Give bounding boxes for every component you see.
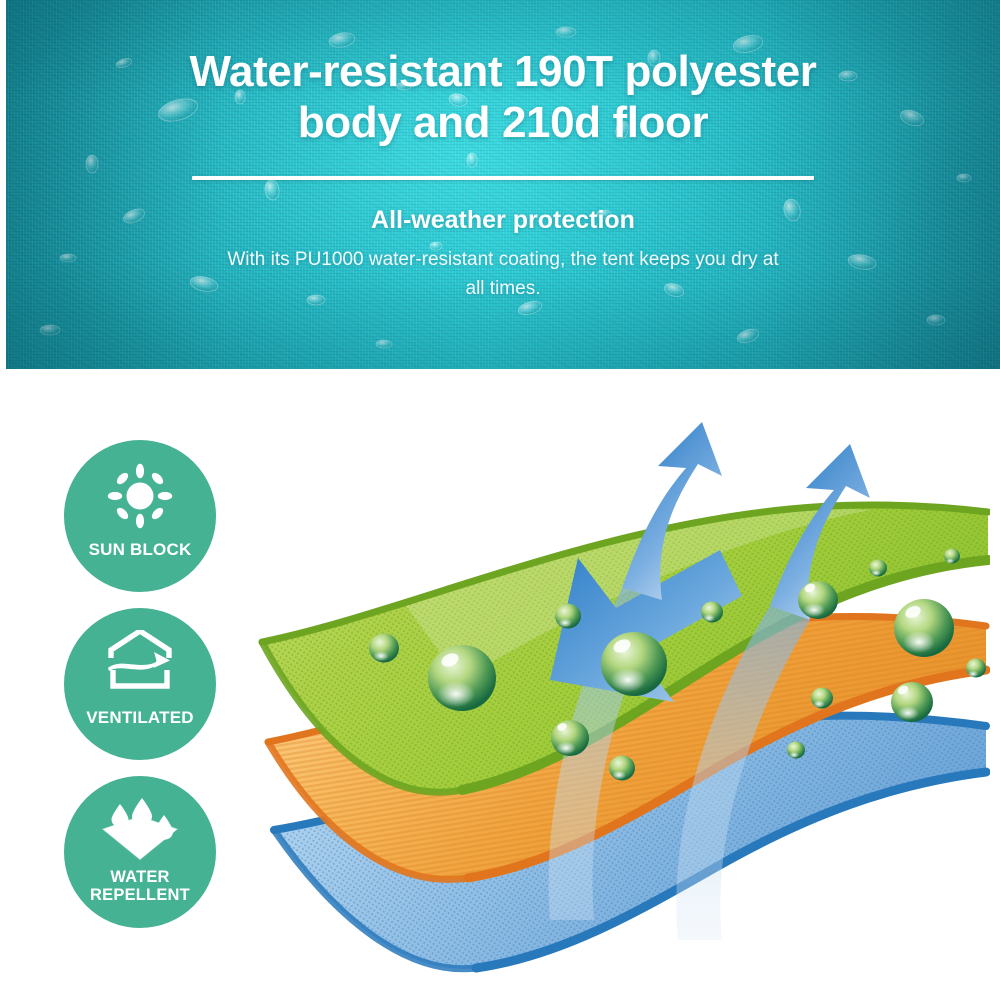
droplet-medium-2 bbox=[891, 682, 933, 722]
ventilation-house-icon bbox=[102, 630, 178, 702]
droplet-large-2 bbox=[601, 632, 667, 696]
badge-label-water-repellent: WATER REPELLENT bbox=[90, 869, 190, 905]
droplet-small-9 bbox=[966, 659, 986, 678]
hero-body-text: With its PU1000 water-resistant coating,… bbox=[6, 246, 1000, 303]
droplet-small-2 bbox=[555, 604, 581, 629]
water-droplets-fabric-icon bbox=[98, 798, 182, 862]
hero-subtitle: All-weather protection bbox=[6, 206, 1000, 235]
hero-divider bbox=[192, 176, 814, 180]
droplet-medium-1 bbox=[798, 581, 838, 619]
badge-label-sun-block: SUN BLOCK bbox=[89, 541, 192, 559]
hero-title-line-1: Water-resistant 190T polyester bbox=[116, 46, 890, 97]
droplet-small-3 bbox=[701, 602, 723, 623]
fabric-layers-svg bbox=[250, 420, 990, 990]
infographic-page: Water-resistant 190T polyester body and … bbox=[0, 0, 1000, 1000]
droplet-large-1 bbox=[428, 645, 496, 711]
sun-icon bbox=[102, 462, 178, 534]
hero-text-block: Water-resistant 190T polyester body and … bbox=[6, 46, 1000, 303]
droplet-small-6 bbox=[869, 560, 887, 577]
hero-title: Water-resistant 190T polyester body and … bbox=[6, 46, 1000, 148]
badge-label-ventilated: VENTILATED bbox=[86, 709, 193, 727]
hero-title-line-2: body and 210d floor bbox=[116, 97, 890, 148]
droplet-small-5 bbox=[811, 688, 833, 709]
badge-water-repellent: WATER REPELLENT bbox=[64, 776, 216, 928]
droplet-small-1 bbox=[369, 634, 399, 663]
badge-sun-block: SUN BLOCK bbox=[64, 440, 216, 592]
droplet-small-7 bbox=[787, 742, 805, 759]
badge-ventilated: VENTILATED bbox=[64, 608, 216, 760]
droplet-large-3 bbox=[894, 599, 954, 657]
hero-banner: Water-resistant 190T polyester body and … bbox=[6, 0, 1000, 369]
droplet-small-4 bbox=[609, 756, 635, 781]
fabric-layers-illustration bbox=[250, 420, 990, 990]
feature-badge-list: SUN BLOCK VENTILATED bbox=[64, 440, 236, 944]
droplet-medium-3 bbox=[551, 720, 589, 756]
